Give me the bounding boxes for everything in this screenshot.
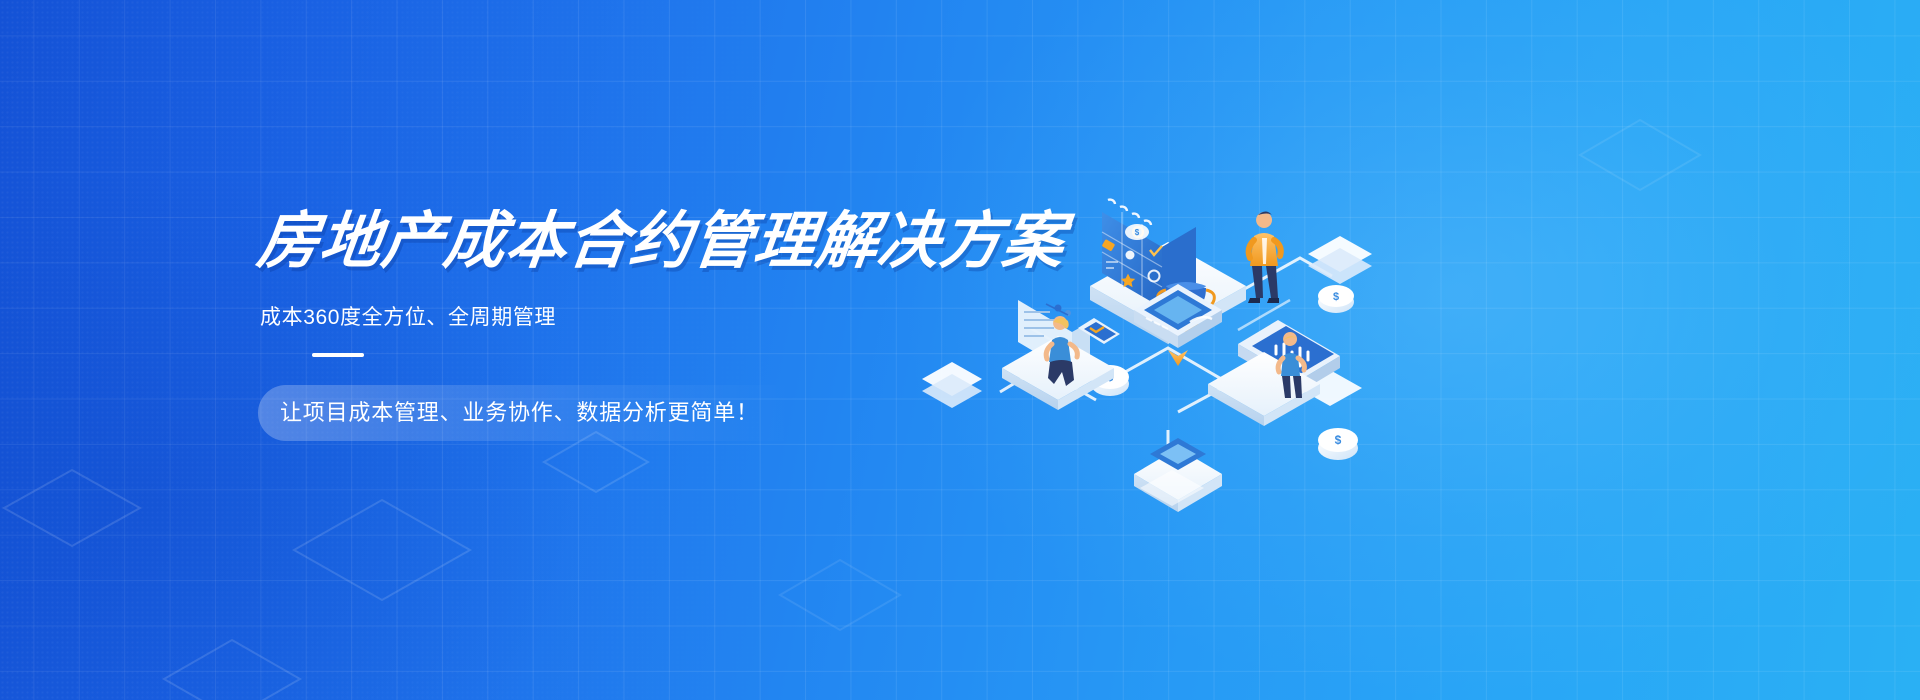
page-title: 房地产成本合约管理解决方案 (254, 208, 1070, 275)
copy-block: 房地产成本合约管理解决方案 成本360度全方位、全周期管理 让项目成本管理、业务… (258, 208, 1078, 441)
banner-stage: 房地产成本合约管理解决方案 成本360度全方位、全周期管理 让项目成本管理、业务… (0, 0, 1920, 700)
cta-banner-pill[interactable]: 让项目成本管理、业务协作、数据分析更简单！ (258, 385, 795, 441)
cta-banner-label: 让项目成本管理、业务协作、数据分析更简单！ (280, 400, 759, 425)
page-subtitle: 成本360度全方位、全周期管理 (260, 301, 1078, 331)
title-divider (312, 353, 364, 357)
